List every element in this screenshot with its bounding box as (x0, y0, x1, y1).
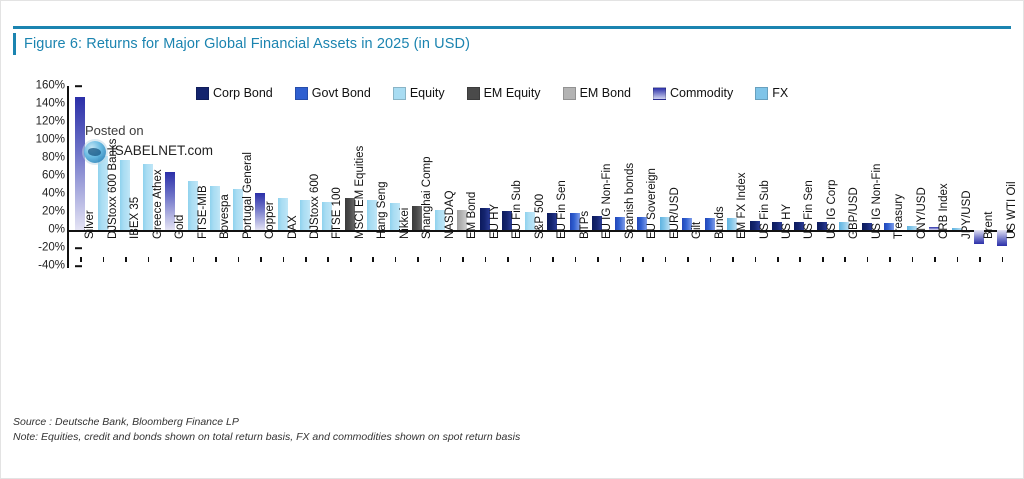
x-tick-label: Nikkei (399, 208, 411, 239)
x-tick-label: EU Fin Sen (556, 180, 568, 239)
x-tick-label: US Fin Sub (759, 180, 771, 239)
x-tick-label: FTSE 100 (331, 187, 343, 239)
x-tick-label: US HY (781, 204, 793, 239)
figure-footer: Source : Deutsche Bank, Bloomberg Financ… (13, 415, 1013, 445)
y-tick-label: 0% (48, 224, 65, 236)
x-tick-label: Hang Seng (376, 181, 388, 239)
x-tick-label: Copper (264, 201, 276, 239)
x-tick-label: DJStoxx 600 (309, 174, 321, 239)
x-tick-label: Greece Athex (152, 169, 164, 239)
y-tick-label: -40% (38, 260, 65, 272)
x-tick-label: S&P 500 (534, 194, 546, 239)
x-tick-label: Gilt (691, 222, 703, 239)
y-tick-label: 40% (42, 188, 65, 200)
x-tick-label: US IG Corp (826, 180, 838, 239)
x-tick-label: Bovespa (219, 194, 231, 239)
y-tick-label: 160% (36, 80, 65, 92)
y-tick-label: 140% (36, 98, 65, 110)
x-tick-label: US WTI Oil (1006, 182, 1018, 240)
x-tick-label: Treasury (893, 194, 905, 239)
x-tick-label: Bunds (714, 206, 726, 239)
x-tick-label: DAX (287, 215, 299, 239)
x-tick-label: EU Fin Sub (511, 180, 523, 239)
y-tick-label: 60% (42, 170, 65, 182)
x-tick-label: US IG Non-Fin (871, 164, 883, 239)
x-tick-label: Portugal General (242, 152, 254, 239)
title-accent-bar (13, 33, 16, 55)
x-tick-label: CNY/USD (916, 187, 928, 239)
figure-title-bar: Figure 6: Returns for Major Global Finan… (13, 26, 1011, 59)
x-tick-label: Spanish bonds (624, 163, 636, 239)
x-tick-label: DJStoxx 600 Banks (107, 139, 119, 239)
page-title: Figure 6: Returns for Major Global Finan… (24, 36, 470, 52)
x-tick-label: IBEX 35 (129, 197, 141, 239)
x-tick-label: US Fin Sen (803, 180, 815, 239)
y-tick-label: 80% (42, 152, 65, 164)
y-tick-label: 120% (36, 116, 65, 128)
x-tick-label: EU IG Non-Fin (601, 164, 613, 239)
x-tick-label: GBP/USD (848, 187, 860, 239)
x-tick-label: Gold (174, 215, 186, 239)
x-tick-label: EU Sovereign (646, 168, 658, 239)
figure-page: Figure 6: Returns for Major Global Finan… (0, 0, 1024, 479)
y-tick-label: 20% (42, 206, 65, 218)
methodology-note: Note: Equities, credit and bonds shown o… (13, 430, 1013, 445)
x-tick-label: FTSE-MIB (197, 185, 209, 239)
y-tick-label: -20% (38, 242, 65, 254)
x-tick-label: EM FX Index (736, 173, 748, 239)
y-tick-label: 100% (36, 134, 65, 146)
x-tick-label: NASDAQ (444, 190, 456, 239)
x-tick-label: EM Bond (466, 192, 478, 239)
x-tick-label: CRB Index (938, 183, 950, 239)
x-tick-label: Shanghai Comp (421, 157, 433, 239)
x-tick-label: JPY/USD (961, 190, 973, 239)
x-tick-label: Silver (84, 210, 96, 239)
x-axis-labels: SilverDJStoxx 600 BanksIBEX 35Greece Ath… (69, 239, 1013, 379)
source-note: Source : Deutsche Bank, Bloomberg Financ… (13, 415, 1013, 430)
x-tick-label: EU HY (489, 204, 501, 239)
bar-chart: Corp BondGovt BondEquityEM EquityEM Bond… (1, 61, 1024, 406)
x-tick-label: EUR/USD (669, 187, 681, 239)
x-tick-label: Brent (983, 212, 995, 240)
x-tick-label: MSCI EM Equities (354, 146, 366, 239)
y-axis-labels: 160%140%120%100%80%60%40%20%0%-20%-40% (15, 79, 65, 274)
x-tick-label: BTPs (579, 211, 591, 239)
